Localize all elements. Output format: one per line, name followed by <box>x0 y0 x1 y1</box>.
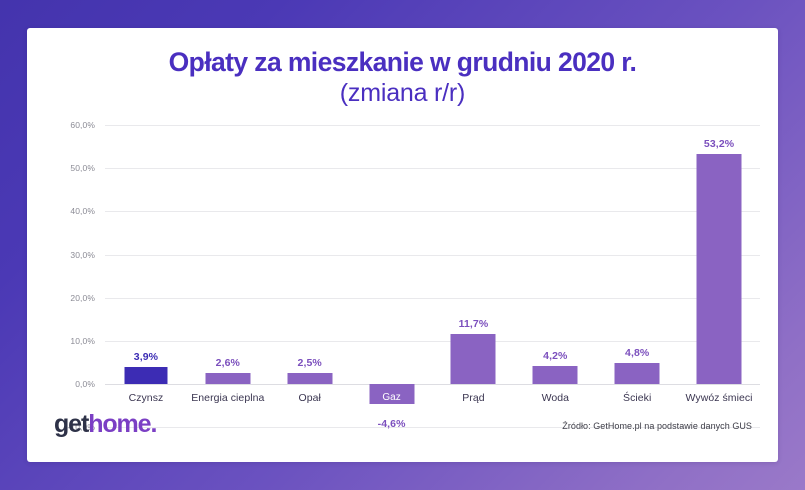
logo-text-home: home. <box>88 410 156 438</box>
y-axis-tick-label: 20,0% <box>27 293 95 303</box>
bar-value-label: 2,6% <box>216 357 240 369</box>
category-label: Czynsz <box>129 392 164 404</box>
y-axis-tick-label: 0,0% <box>27 379 95 389</box>
y-axis-tick-label: 10,0% <box>27 336 95 346</box>
bar-group: 4,8%Ścieki <box>596 28 678 418</box>
y-axis-tick-label: 50,0% <box>27 163 95 173</box>
bar-group: 3,9%Czynsz <box>105 28 187 418</box>
category-label: Wywóz śmieci <box>686 392 753 404</box>
bar-group: 2,6%Energia cieplna <box>187 28 269 418</box>
bar[interactable] <box>697 154 742 384</box>
chart-card: Opłaty za mieszkanie w grudniu 2020 r. (… <box>27 28 778 462</box>
bar-value-label: 53,2% <box>704 138 734 150</box>
bar-group: 11,7%Prąd <box>433 28 515 418</box>
bar-group: 2,5%Opał <box>269 28 351 418</box>
bars-layer: 3,9%Czynsz2,6%Energia cieplna2,5%Opał-4,… <box>105 28 760 418</box>
bar[interactable] <box>533 366 578 384</box>
category-label: Woda <box>542 392 569 404</box>
bar[interactable] <box>615 363 660 384</box>
bar[interactable] <box>287 373 332 384</box>
y-axis-tick-label: 30,0% <box>27 250 95 260</box>
bar-value-label: 4,2% <box>543 350 567 362</box>
source-note: Źródło: GetHome.pl na podstawie danych G… <box>562 421 752 431</box>
category-label: Ścieki <box>623 392 651 404</box>
y-axis-tick-label: 40,0% <box>27 206 95 216</box>
logo-text-get: get <box>54 410 88 438</box>
gethome-logo: gethome. <box>54 412 156 437</box>
category-label: Energia cieplna <box>191 392 264 404</box>
bar[interactable] <box>124 367 167 384</box>
category-label: Opał <box>298 392 320 404</box>
y-axis-tick-label: 60,0% <box>27 120 95 130</box>
category-label: Gaz <box>382 392 401 403</box>
bar-value-label: 4,8% <box>625 347 649 359</box>
infographic-frame: Opłaty za mieszkanie w grudniu 2020 r. (… <box>0 0 805 490</box>
bar-group: 53,2%Wywóz śmieci <box>678 28 760 418</box>
bar[interactable] <box>451 334 496 385</box>
bar-group: -4,6%Gaz <box>351 28 433 418</box>
chart-footer: gethome. Źródło: GetHome.pl na podstawie… <box>27 404 778 462</box>
bar-value-label: 2,5% <box>298 357 322 369</box>
category-label: Prąd <box>462 392 484 404</box>
bar-value-label: 11,7% <box>459 318 489 330</box>
bar-group: 4,2%Woda <box>514 28 596 418</box>
plot-area: 60,0%50,0%40,0%30,0%20,0%10,0%0,0%-10,0%… <box>27 28 778 418</box>
bar[interactable] <box>205 373 250 384</box>
bar-value-label: 3,9% <box>134 351 158 363</box>
